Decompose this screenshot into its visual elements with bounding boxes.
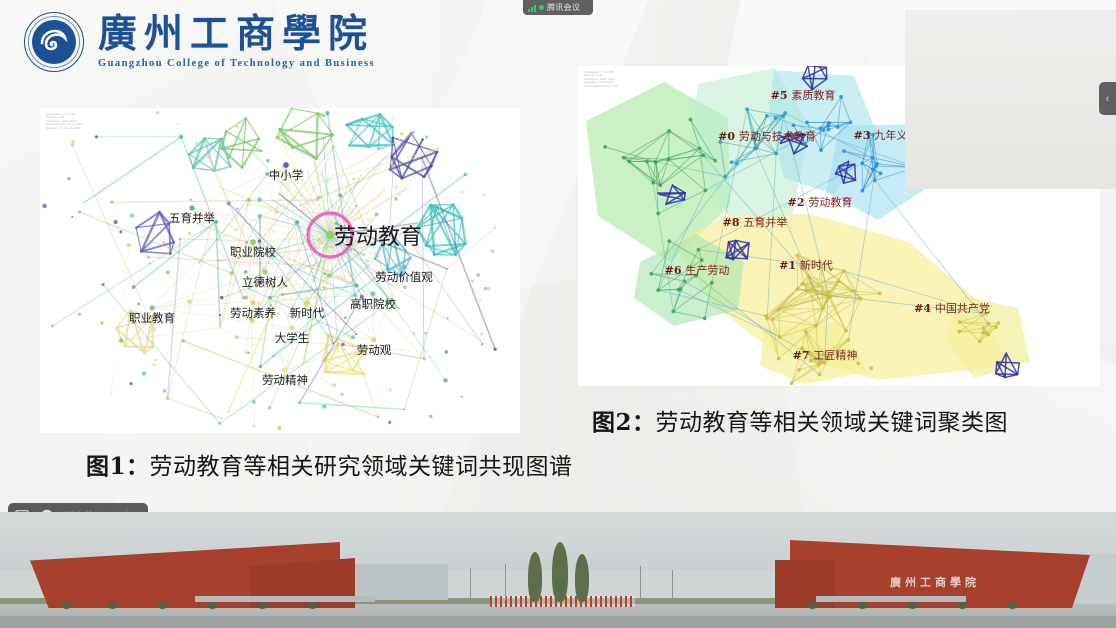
cluster-name: 劳动教育 <box>808 196 852 209</box>
swirl-eye-logo-icon <box>24 12 84 72</box>
logo-chinese-name: 廣州工商學院 <box>98 15 375 54</box>
figure1-node-label: 劳动价值观 <box>375 269 433 285</box>
cluster-id: #7 <box>793 349 814 362</box>
cluster-name: 新时代 <box>800 259 833 272</box>
cluster-id: #4 <box>914 302 935 315</box>
figure1-caption-prefix: 图1： <box>86 453 150 480</box>
figure2-caption-text: 劳动教育等相关领域关键词聚类图 <box>656 410 1009 436</box>
figure1-node-label: 立德树人 <box>242 274 288 290</box>
figure2-cluster-label: #0 劳动与技术教育 <box>718 128 816 144</box>
figure1-node-label: 劳动素养 <box>230 305 276 321</box>
figure2-cluster-label: #5 素质教育 <box>771 87 836 103</box>
sidebar-collapse-button[interactable]: ‹ <box>1099 82 1116 115</box>
chevron-left-icon: ‹ <box>1106 93 1110 105</box>
cluster-name: 工匠精神 <box>813 349 857 362</box>
figure1-node-label: 劳动教育 <box>334 219 422 251</box>
cluster-name: 素质教育 <box>791 89 835 102</box>
figure2-cluster-label: #1 新时代 <box>779 257 833 273</box>
meeting-screen-share-view: 廣州工商學院 Guangzhou College of Technology a… <box>0 0 1116 628</box>
figure1-node-label: 五育并举 <box>169 210 215 226</box>
recording-dot-icon <box>539 5 544 10</box>
figure1-node-label: 新时代 <box>290 305 325 321</box>
swirl-glyph-icon <box>38 26 70 58</box>
figure2-caption-prefix: 图2： <box>592 409 656 436</box>
cluster-id: #6 <box>665 264 686 277</box>
school-logo: 廣州工商學院 Guangzhou College of Technology a… <box>24 12 375 72</box>
campus-gate-photo: 廣州工商學院 <box>0 512 1116 628</box>
tencent-meeting-label: 腾讯会议 <box>547 2 580 13</box>
cluster-name: 五育并举 <box>743 216 787 229</box>
figure1-node-label: 劳动观 <box>357 342 392 358</box>
figure1-caption: 图1：劳动教育等相关研究领域关键词共现图谱 <box>86 447 573 481</box>
cluster-name: 劳动与技术教育 <box>739 130 816 143</box>
figure1-node-label: 大学生 <box>275 330 310 346</box>
cluster-id: #1 <box>779 259 800 272</box>
cluster-id: #2 <box>788 196 809 209</box>
figure2-cluster-label: #2 劳动教育 <box>788 194 853 210</box>
cluster-id: #5 <box>771 89 792 102</box>
figure2-cluster-label: #6 生产劳动 <box>665 262 730 278</box>
figure2-cluster-label: #8 五育并举 <box>723 214 788 230</box>
figure1-keyword-cooccurrence-map: CiteSpace, v. 6.1.R6 #Terms, LLR Timespa… <box>40 108 520 433</box>
cluster-name: 生产劳动 <box>685 264 729 277</box>
logo-english-name: Guangzhou College of Technology and Busi… <box>98 59 375 70</box>
figure2-cluster-label: #7 工匠精神 <box>793 347 858 363</box>
tencent-meeting-badge: 腾讯会议 <box>523 0 593 15</box>
gate-wall-text: 廣州工商學院 <box>890 574 980 590</box>
cluster-id: #3 <box>854 129 875 142</box>
presenter-video-tile[interactable] <box>905 10 1116 189</box>
figure1-node-label: 高职院校 <box>350 296 396 312</box>
figure2-caption: 图2：劳动教育等相关领域关键词聚类图 <box>592 403 1008 437</box>
signal-icon <box>528 4 536 12</box>
cluster-name: 中国共产党 <box>935 302 990 315</box>
figure2-cluster-label: #4 中国共产党 <box>914 300 990 316</box>
cluster-id: #8 <box>723 216 744 229</box>
figure1-node-label: 职业教育 <box>129 310 175 326</box>
figure1-node-label: 职业院校 <box>230 244 276 260</box>
figure1-node-label: 劳动精神 <box>262 372 308 388</box>
figure1-node-label: 中小学 <box>269 167 304 183</box>
figure1-caption-text: 劳动教育等相关研究领域关键词共现图谱 <box>150 454 573 480</box>
cluster-id: #0 <box>718 130 739 143</box>
